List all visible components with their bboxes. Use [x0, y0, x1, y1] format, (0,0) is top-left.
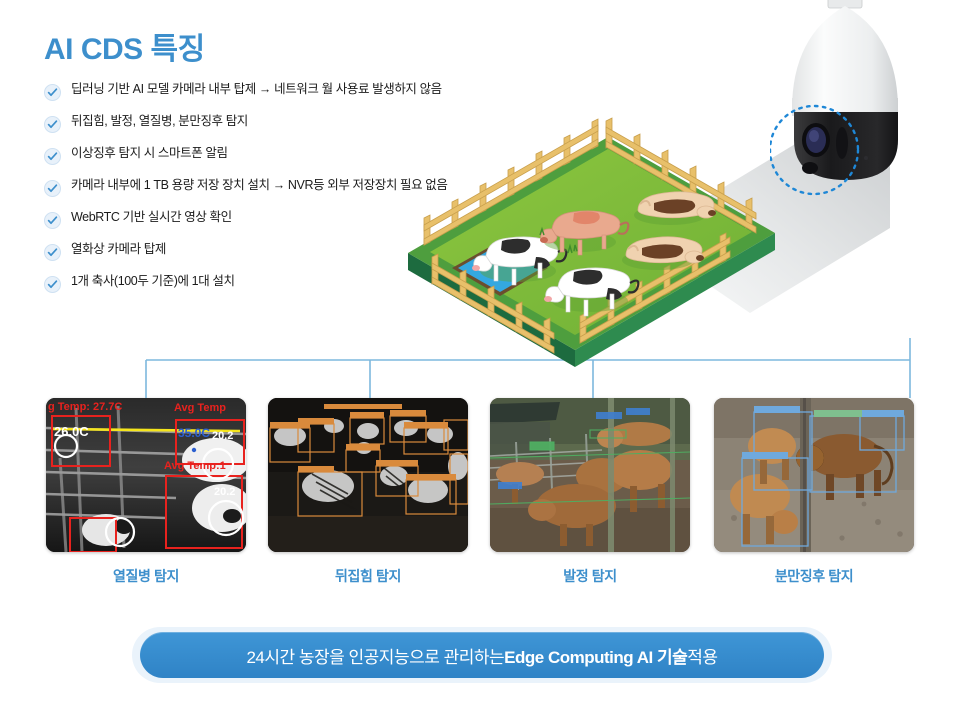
feature-text: 열화상 카메라 탑제	[71, 242, 166, 257]
panel-caption: 발정 탐지	[490, 566, 690, 586]
thermal-overlay-text: Avg Temp:1	[164, 460, 226, 472]
thermal-detection-panel[interactable]: g Temp: 27.7C 26.0C Avg Temp 35.0C 20.2 …	[46, 398, 246, 552]
feature-text: 1개 축사(100두 기준)에 1대 설치	[71, 274, 235, 289]
thermal-overlay-text: 20.2	[212, 430, 233, 442]
list-item: 딥러닝 기반 AI 모델 카메라 내부 탑제 → 네트워크 월 사용료 발생하지…	[44, 82, 564, 101]
check-circle-icon	[44, 180, 61, 197]
daylight-estrus-image	[490, 398, 690, 552]
flip-detection-panel[interactable]	[268, 398, 468, 552]
secondary-lens	[802, 162, 818, 174]
calving-sign-detection-panel[interactable]	[714, 398, 914, 552]
check-circle-icon	[44, 244, 61, 261]
banner-text-tail: 적용	[687, 643, 717, 668]
bottom-banner-halo: 24시간 농장을 인공지능으로 관리하는 Edge Computing AI 기…	[132, 627, 832, 683]
feature-text: WebRTC 기반 실시간 영상 확인	[71, 210, 232, 225]
thermal-overlay-text: 20.2	[214, 486, 235, 498]
panel-caption: 열질병 탐지	[46, 566, 246, 586]
thermal-overlay-text: 35.0C	[178, 426, 210, 440]
check-circle-icon	[44, 148, 61, 165]
panel-caption: 분만징후 탐지	[714, 566, 914, 586]
bottom-banner: 24시간 농장을 인공지능으로 관리하는 Edge Computing AI 기…	[140, 632, 824, 678]
feature-text: 뒤집힘, 발정, 열질병, 분만징후 탐지	[71, 114, 248, 129]
thermal-image	[46, 398, 246, 552]
detection-panel-row: g Temp: 27.7C 26.0C Avg Temp 35.0C 20.2 …	[0, 398, 960, 554]
daylight-calving-image	[714, 398, 914, 552]
nightvision-image	[268, 398, 468, 552]
panel-caption: 뒤집힘 탐지	[268, 566, 468, 586]
check-circle-icon	[44, 212, 61, 229]
check-circle-icon	[44, 276, 61, 293]
page-title: AI CDS 특징	[44, 24, 205, 68]
feature-text: 딥러닝 기반 AI 모델 카메라 내부 탑제 → 네트워크 월 사용료 발생하지…	[71, 82, 442, 97]
thermal-overlay-text: 26.0C	[54, 424, 89, 439]
ir-illuminator	[836, 127, 848, 159]
banner-text-lead: 24시간 농장을 인공지능으로 관리하는	[246, 643, 504, 668]
feature-text: 이상징후 탐지 시 스마트폰 알림	[71, 146, 228, 161]
estrus-detection-panel[interactable]	[490, 398, 690, 552]
check-circle-icon	[44, 116, 61, 133]
banner-text-bold: Edge Computing AI 기술	[504, 643, 687, 668]
check-circle-icon	[44, 84, 61, 101]
slide-root: AI CDS 특징 딥러닝 기반 AI 모델 카메라 내부 탑제 → 네트워크 …	[0, 0, 960, 709]
isometric-cattle-barn	[390, 105, 790, 370]
ptz-dome-camera	[770, 0, 945, 198]
